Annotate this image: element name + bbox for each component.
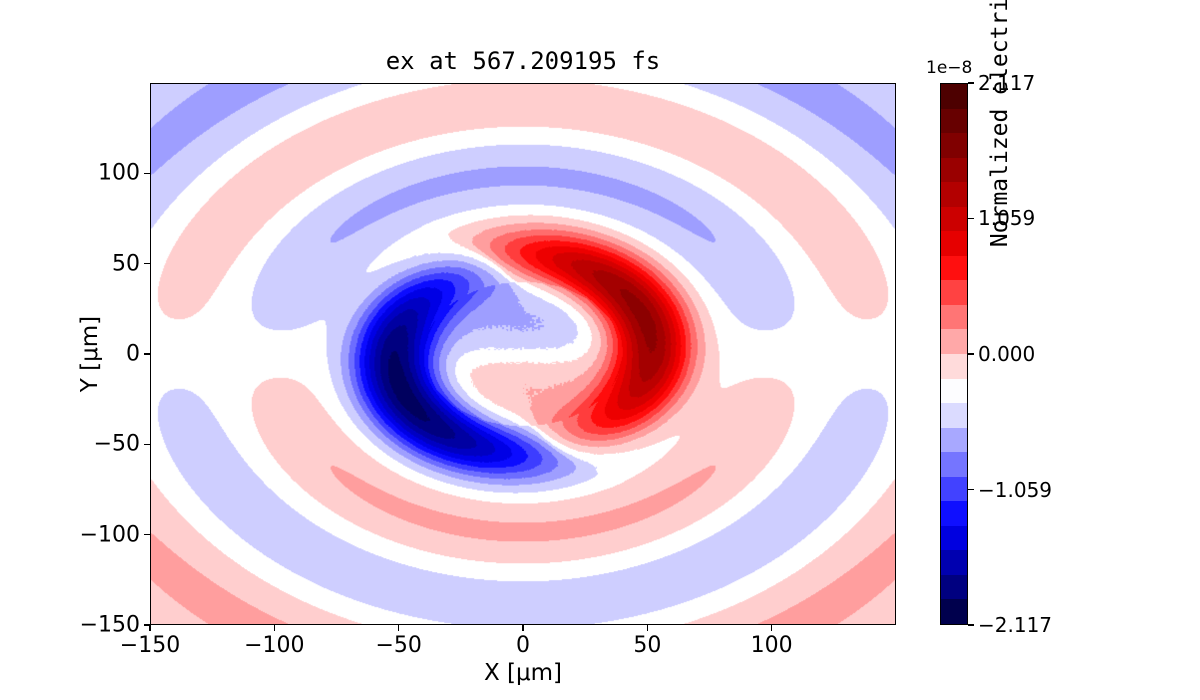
colorbar-label: Normalized electric field	[987, 0, 1013, 354]
colorbar-segment	[941, 329, 967, 354]
colorbar-segment	[941, 428, 967, 453]
x-tick-mark	[398, 625, 399, 631]
colorbar-segment	[941, 158, 967, 183]
colorbar-segment	[941, 354, 967, 379]
x-tick-label: 0	[516, 633, 530, 658]
y-tick-mark	[144, 624, 150, 625]
colorbar-tick-label: −1.059	[978, 478, 1052, 502]
y-tick-mark	[144, 534, 150, 535]
contour-field-image	[151, 84, 895, 624]
figure-canvas: ex at 567.209195 fs −150−100−50050100100…	[0, 0, 1200, 700]
y-tick-label: −100	[80, 522, 140, 547]
y-tick-mark	[144, 263, 150, 264]
colorbar-segment	[941, 526, 967, 551]
y-tick-label: −150	[80, 613, 140, 638]
y-axis-label: Y [μm]	[77, 254, 103, 454]
colorbar-tick-mark	[968, 353, 974, 354]
colorbar-tick-mark	[968, 82, 974, 83]
colorbar-segment	[941, 501, 967, 526]
x-tick-mark	[149, 625, 150, 631]
colorbar-segment	[941, 84, 967, 109]
colorbar[interactable]	[940, 83, 968, 625]
colorbar-tick-mark	[968, 624, 974, 625]
x-axis-label: X [μm]	[150, 660, 896, 686]
y-tick-label: 100	[98, 161, 140, 186]
y-tick-label: 0	[126, 342, 140, 367]
colorbar-segment	[941, 575, 967, 600]
x-tick-mark	[274, 625, 275, 631]
colorbar-segment	[941, 550, 967, 575]
plot-area[interactable]	[150, 83, 896, 625]
colorbar-tick-mark	[968, 218, 974, 219]
x-tick-label: −100	[244, 633, 304, 658]
y-tick-mark	[144, 353, 150, 354]
colorbar-segment	[941, 477, 967, 502]
colorbar-offset-text: 1e−8	[926, 58, 972, 78]
x-tick-label: −50	[375, 633, 421, 658]
y-tick-label: 50	[112, 251, 140, 276]
x-tick-mark	[522, 625, 523, 631]
colorbar-segment	[941, 452, 967, 477]
colorbar-gradient	[940, 83, 968, 625]
colorbar-segment	[941, 379, 967, 404]
colorbar-segment	[941, 403, 967, 428]
colorbar-segment	[941, 256, 967, 281]
colorbar-segment	[941, 305, 967, 330]
page-title: ex at 567.209195 fs	[150, 47, 896, 75]
colorbar-tick-mark	[968, 489, 974, 490]
colorbar-segment	[941, 207, 967, 232]
colorbar-segment	[941, 280, 967, 305]
y-tick-mark	[144, 444, 150, 445]
colorbar-tick-label: −2.117	[978, 613, 1052, 637]
colorbar-segment	[941, 231, 967, 256]
colorbar-segment	[941, 182, 967, 207]
x-tick-mark	[771, 625, 772, 631]
x-tick-label: 50	[633, 633, 661, 658]
colorbar-segment	[941, 109, 967, 134]
x-tick-mark	[647, 625, 648, 631]
y-tick-mark	[144, 173, 150, 174]
colorbar-segment	[941, 599, 967, 624]
colorbar-segment	[941, 133, 967, 158]
x-tick-label: 100	[751, 633, 793, 658]
